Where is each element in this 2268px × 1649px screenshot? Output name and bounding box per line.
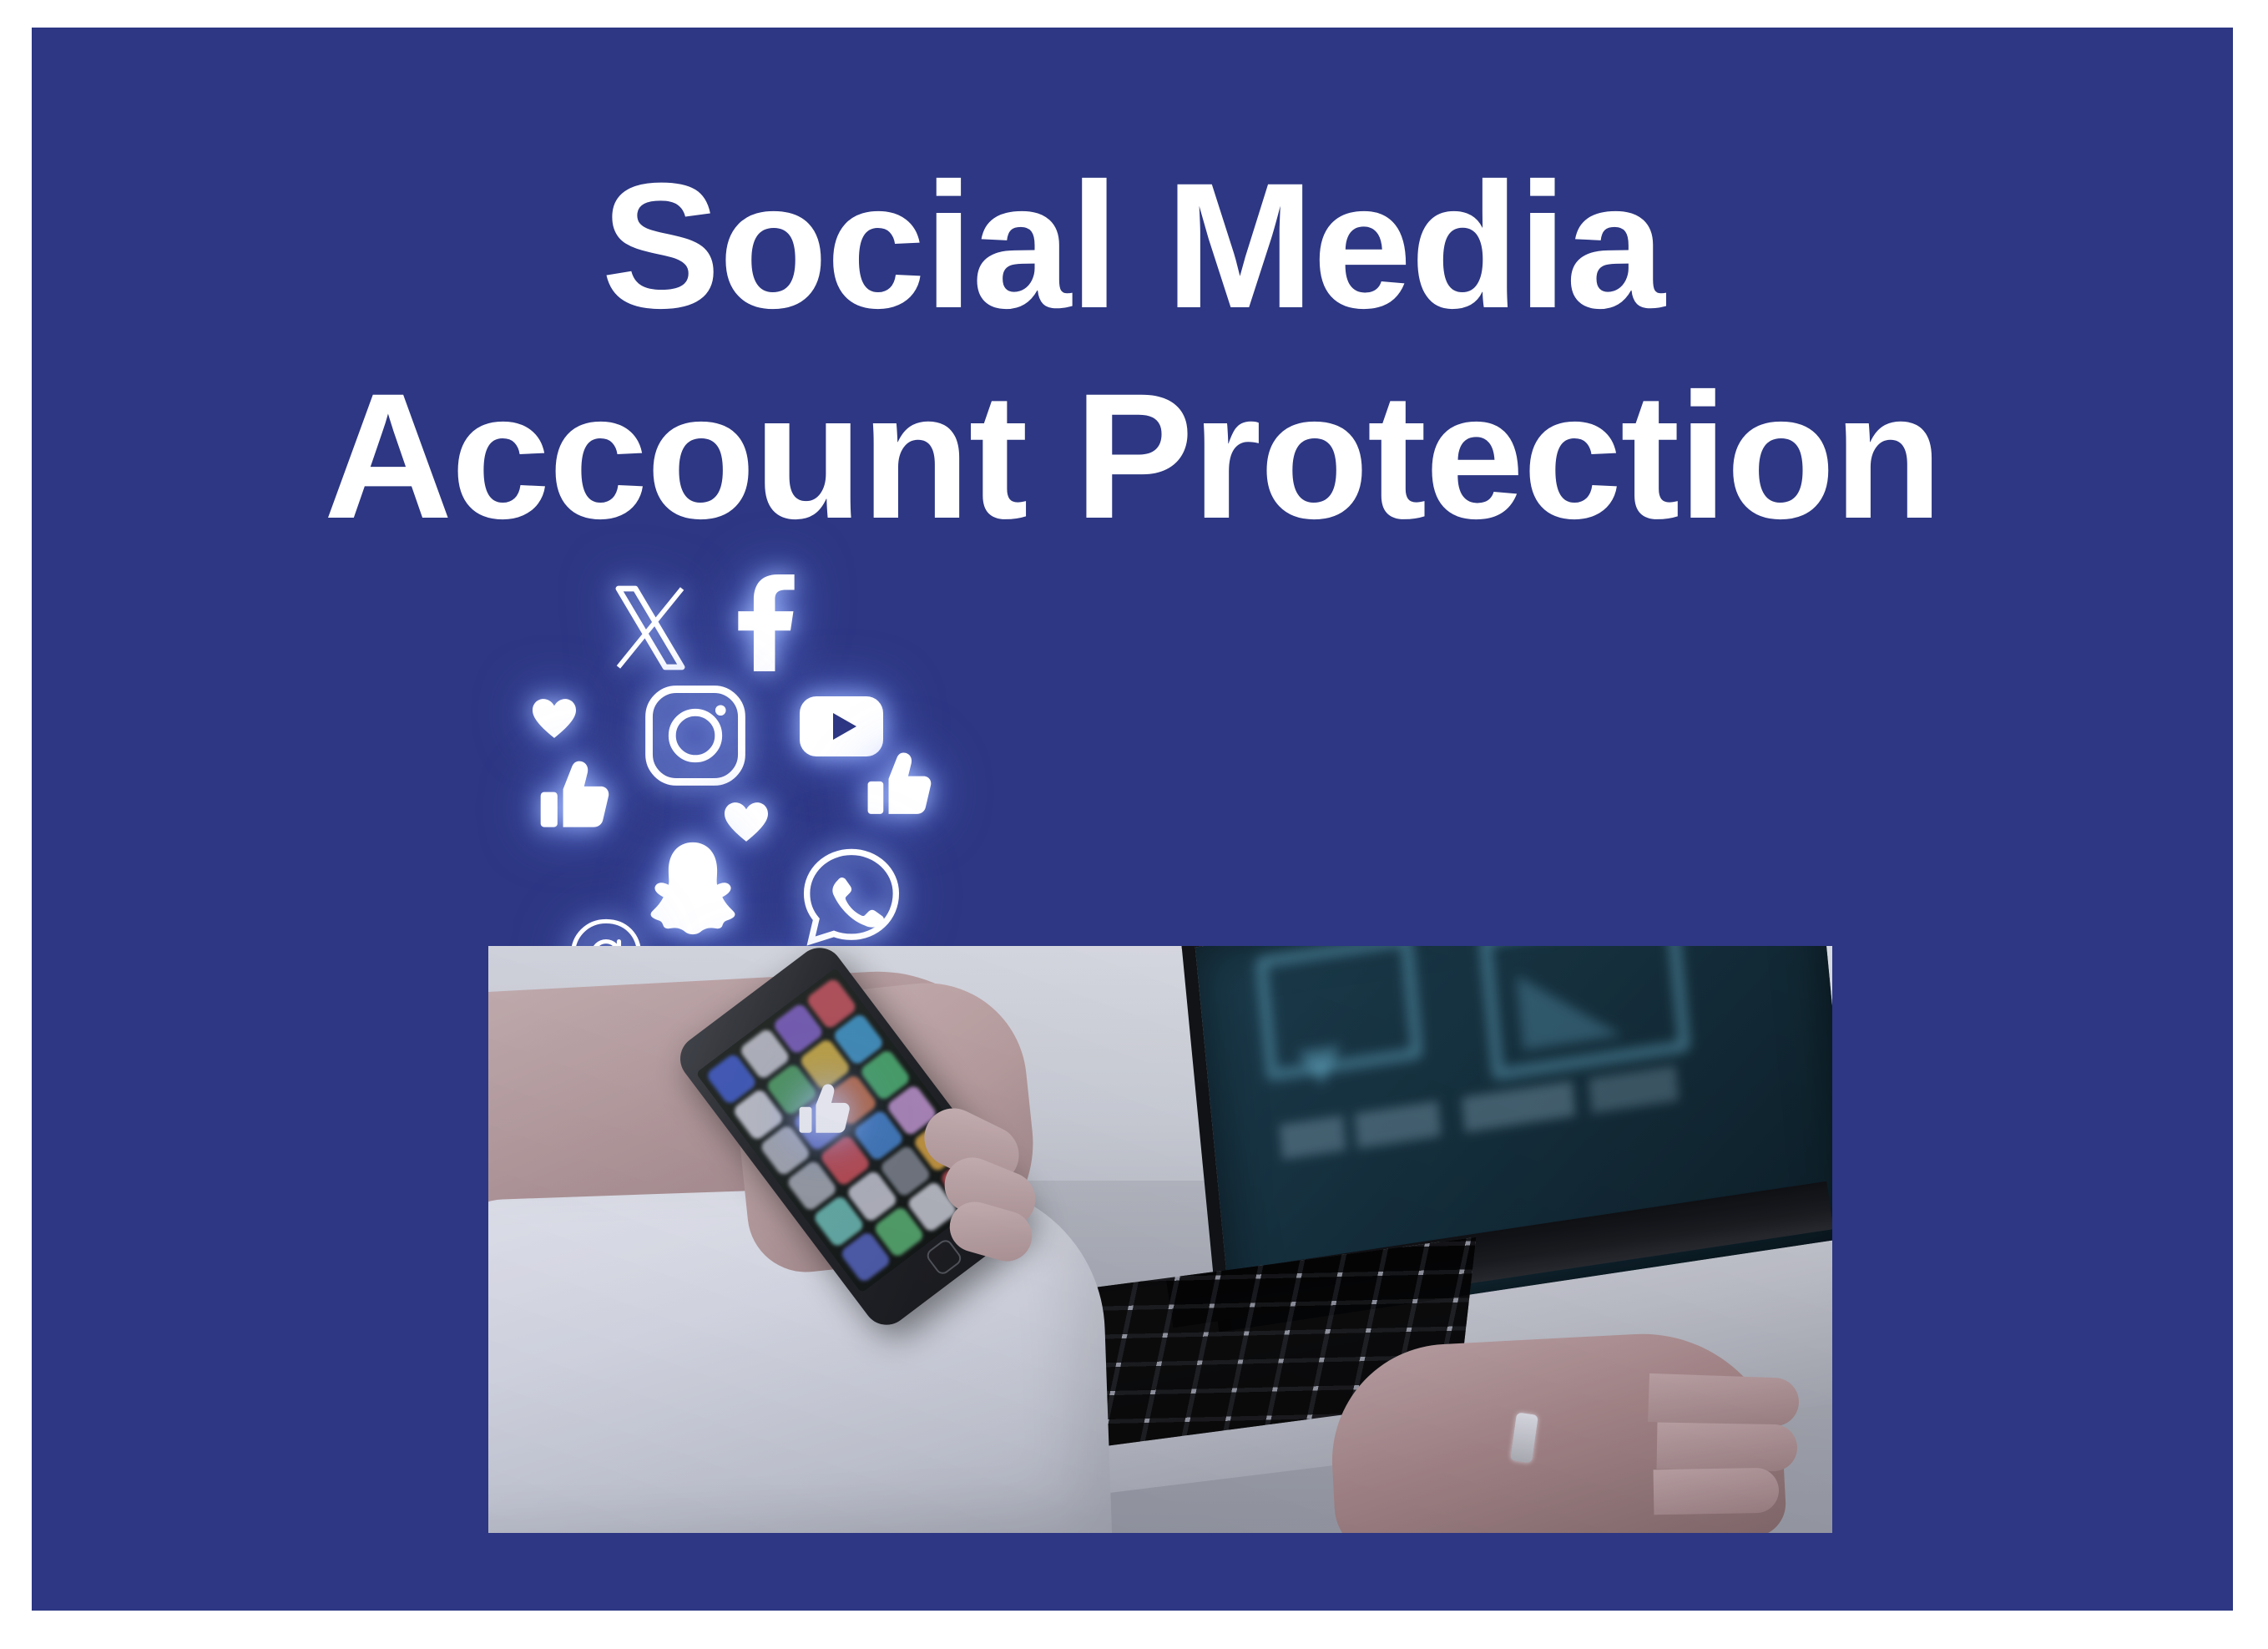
image-frame-glyph <box>1479 946 1691 1081</box>
right-hand-finger <box>1648 1373 1800 1427</box>
photo-scene <box>488 946 1832 1533</box>
heart-icon <box>533 698 576 740</box>
thumbs-up-icon <box>866 751 932 817</box>
page-title: Social Media Account Protection <box>32 157 2233 546</box>
thumbs-up-icon <box>539 760 609 830</box>
title-line-2: Account Protection <box>32 367 2233 546</box>
instagram-icon <box>643 683 748 788</box>
snapchat-icon <box>649 840 736 938</box>
chat-bubble-glyph <box>1255 946 1423 1082</box>
thumbs-up-icon <box>798 1083 850 1135</box>
x-twitter-icon <box>604 581 697 675</box>
whatsapp-icon <box>800 846 903 949</box>
right-hand-finger <box>1657 1423 1798 1472</box>
title-line-1: Social Media <box>32 157 2233 336</box>
slide-canvas: Social Media Account Protection <box>32 28 2233 1611</box>
right-hand-finger <box>1654 1468 1780 1515</box>
facebook-icon <box>731 574 801 671</box>
youtube-icon <box>800 696 883 757</box>
hero-photo <box>488 946 1832 1533</box>
heart-icon <box>725 802 768 843</box>
